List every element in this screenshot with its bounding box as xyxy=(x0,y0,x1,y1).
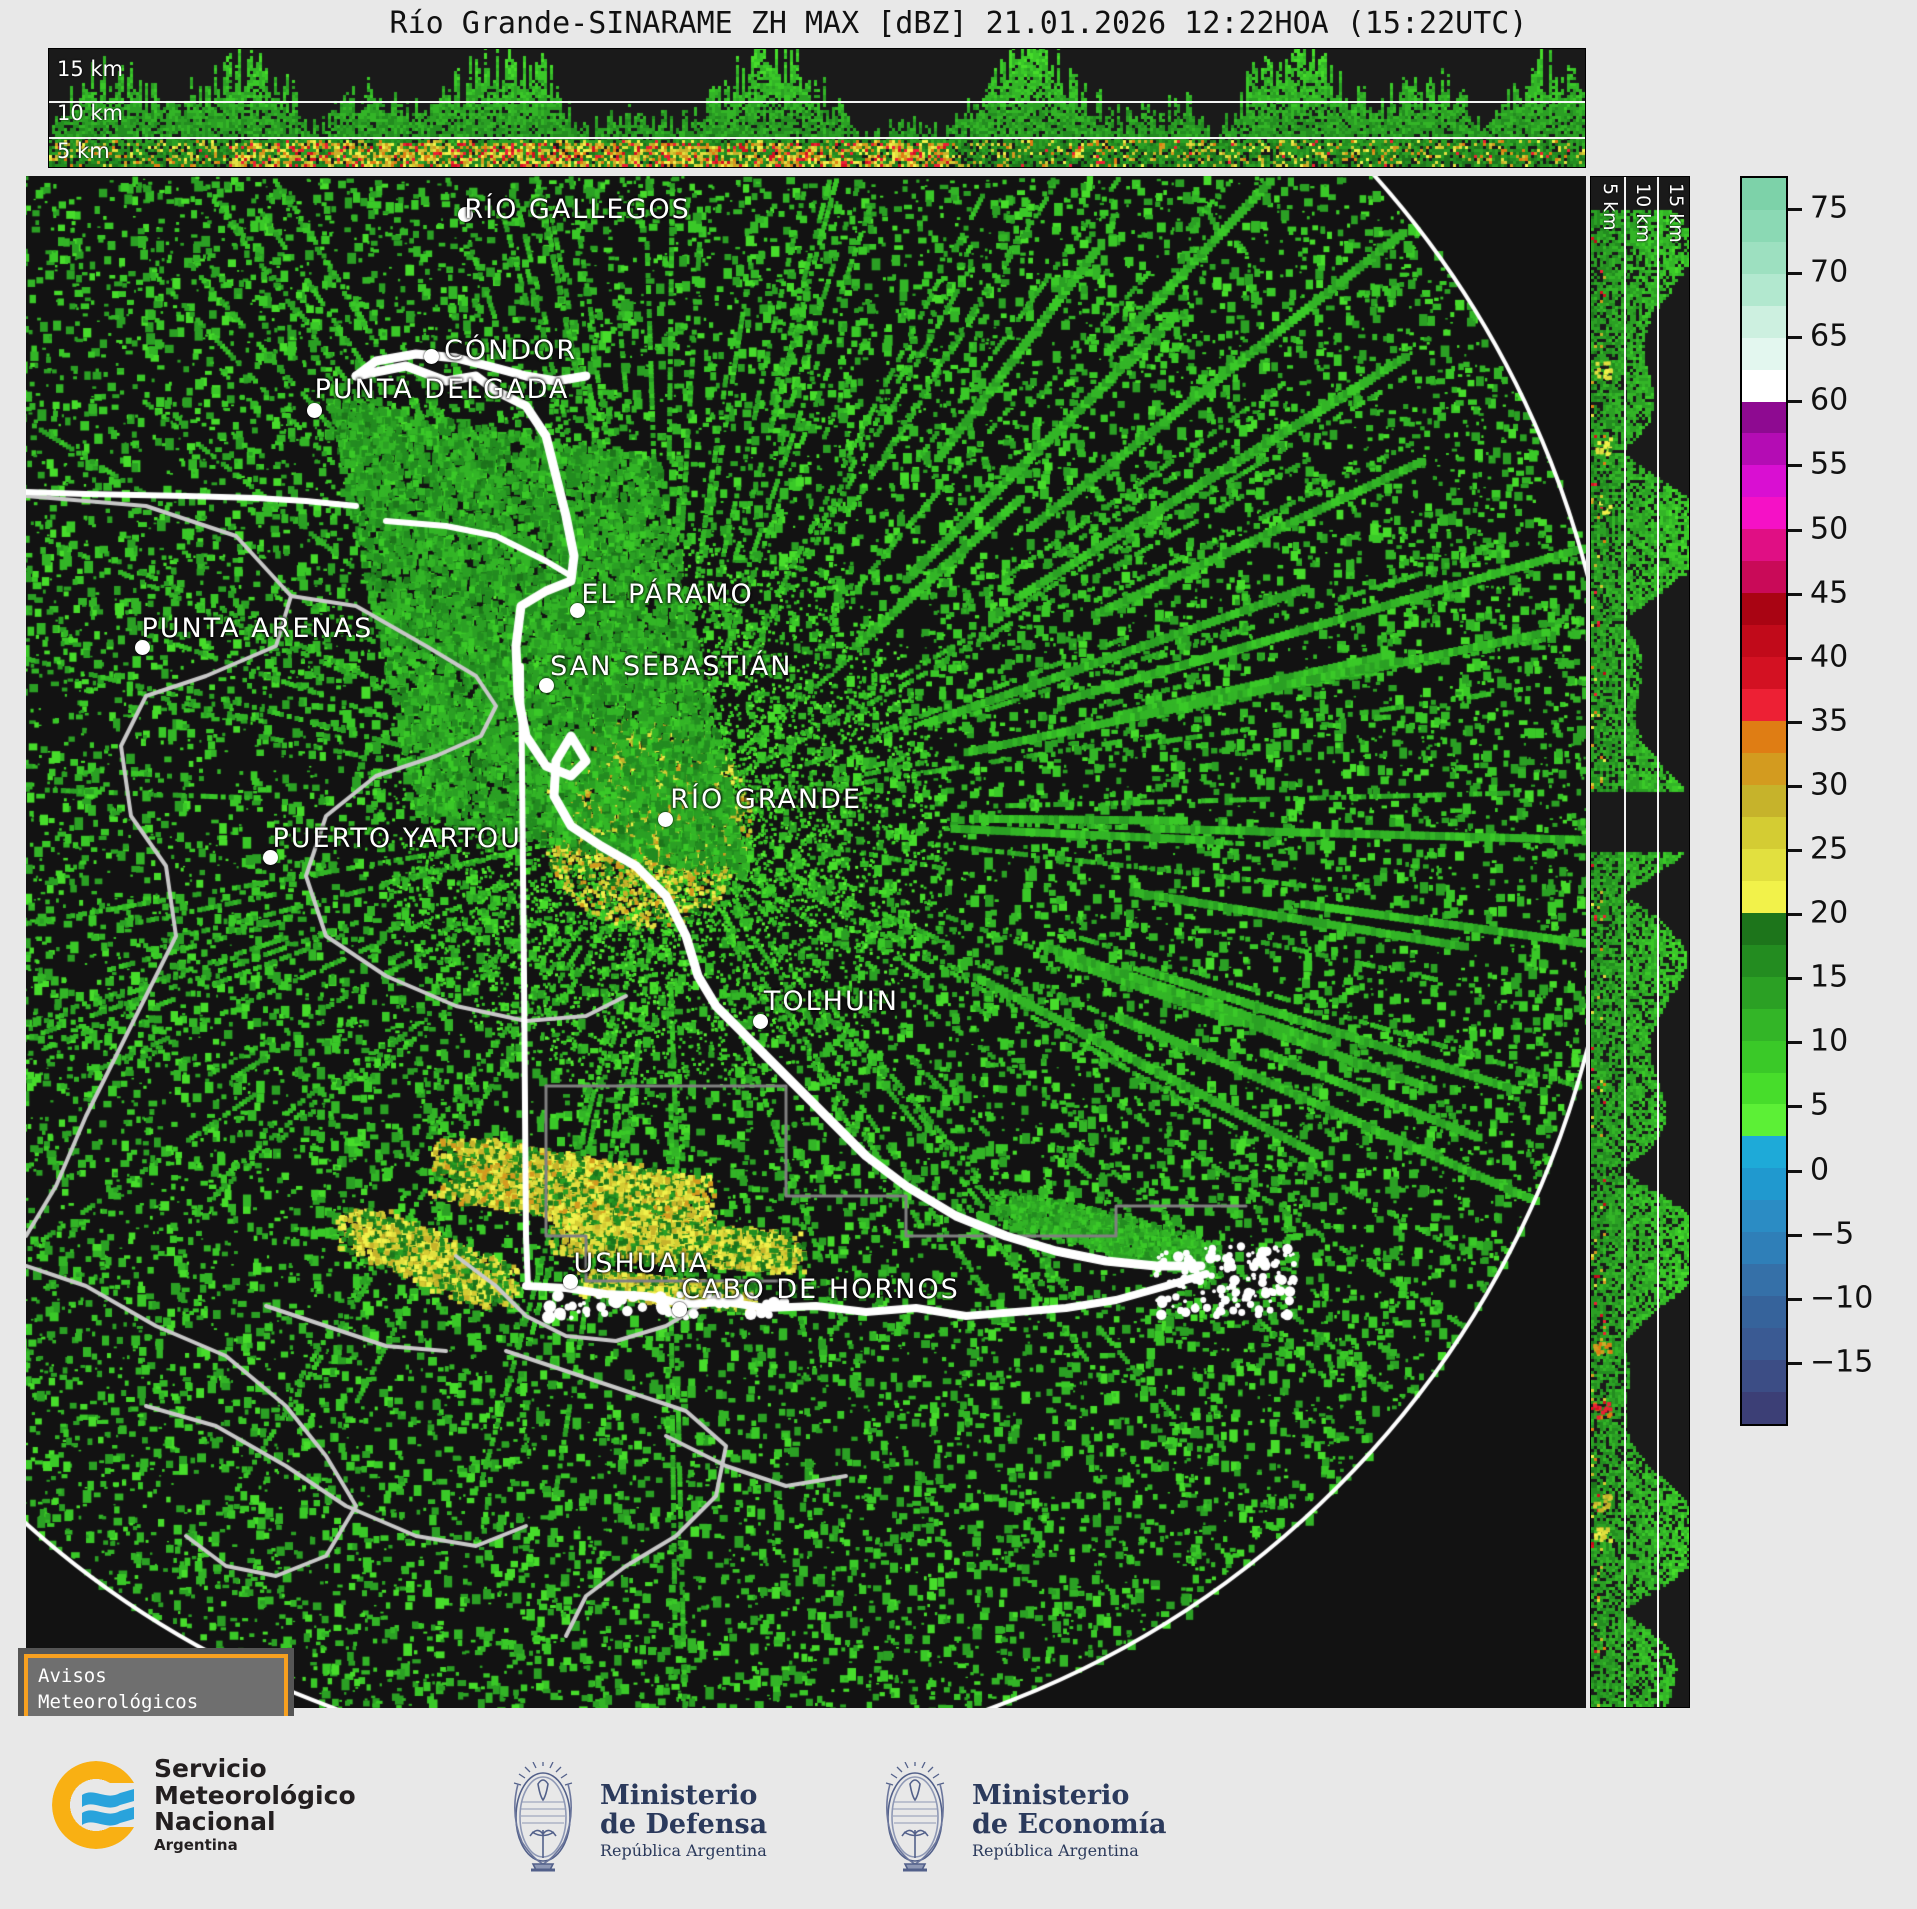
colorbar-tick xyxy=(1788,1041,1802,1044)
argentina-coat-of-arms-icon xyxy=(872,1762,958,1878)
city-marker-dot xyxy=(658,812,673,827)
economia-line2: de Economía xyxy=(972,1810,1166,1839)
defensa-line1: Ministerio xyxy=(600,1781,767,1810)
colorbar-segment xyxy=(1742,465,1786,497)
colorbar-segment xyxy=(1742,1200,1786,1232)
colorbar-segment xyxy=(1742,274,1786,306)
page-title: Río Grande-SINARAME ZH MAX [dBZ] 21.01.2… xyxy=(0,0,1917,46)
colorbar-tick xyxy=(1788,977,1802,980)
colorbar-tick-label: 45 xyxy=(1810,575,1848,610)
colorbar-tick-label: 40 xyxy=(1810,639,1848,674)
colorbar-segment xyxy=(1742,178,1786,210)
top-gridline-10km xyxy=(49,101,1585,103)
right-cross-section-panel: 5 km 10 km 15 km xyxy=(1590,176,1690,1708)
colorbar-segment xyxy=(1742,817,1786,849)
colorbar-segment xyxy=(1742,1232,1786,1264)
colorbar-tick-label: −10 xyxy=(1810,1280,1873,1315)
colorbar-tick xyxy=(1788,849,1802,852)
colorbar-tick-label: 55 xyxy=(1810,447,1848,482)
city-marker-dot xyxy=(307,403,322,418)
colorbar-segment xyxy=(1742,1168,1786,1200)
logo-ministerio-defensa: Ministerio de Defensa República Argentin… xyxy=(500,1762,767,1878)
colorbar-tick-label: 30 xyxy=(1810,767,1848,802)
city-marker-dot xyxy=(672,1302,687,1317)
colorbar-segment xyxy=(1742,785,1786,817)
city-marker-dot xyxy=(424,349,439,364)
colorbar-tick xyxy=(1788,272,1802,275)
colorbar-segment xyxy=(1742,721,1786,753)
colorbar-segment xyxy=(1742,433,1786,465)
colorbar-segment xyxy=(1742,1328,1786,1360)
colorbar-segment xyxy=(1742,402,1786,434)
colorbar-segment xyxy=(1742,753,1786,785)
colorbar-tick xyxy=(1788,336,1802,339)
colorbar-tick xyxy=(1788,529,1802,532)
top-cross-section-canvas xyxy=(49,49,1585,167)
colorbar-segment xyxy=(1742,945,1786,977)
colorbar-tick-label: 5 xyxy=(1810,1088,1829,1123)
colorbar-segment xyxy=(1742,849,1786,881)
warning-line-1: Avisos Meteorológicos xyxy=(38,1664,274,1715)
colorbar-segment xyxy=(1742,1296,1786,1328)
colorbar-tick xyxy=(1788,593,1802,596)
right-height-label-5km: 5 km xyxy=(1599,183,1621,231)
colorbar-segment xyxy=(1742,593,1786,625)
argentina-coat-of-arms-icon xyxy=(500,1762,586,1878)
top-height-label-5km: 5 km xyxy=(57,139,110,163)
colorbar-tick xyxy=(1788,400,1802,403)
colorbar-tick xyxy=(1788,1234,1802,1237)
colorbar-segment xyxy=(1742,306,1786,338)
colorbar-tick xyxy=(1788,657,1802,660)
colorbar-tick xyxy=(1788,208,1802,211)
colorbar-segment xyxy=(1742,370,1786,402)
colorbar-segment xyxy=(1742,1009,1786,1041)
smn-logo-text: Servicio Meteorológico Nacional Argentin… xyxy=(154,1756,356,1853)
colorbar-segment xyxy=(1742,689,1786,721)
colorbar-segment xyxy=(1742,1392,1786,1424)
colorbar-tick-label: 0 xyxy=(1810,1152,1829,1187)
colorbar-tick-label: 25 xyxy=(1810,832,1848,867)
colorbar-gradient xyxy=(1740,176,1788,1426)
radar-map-panel[interactable]: RÍO GALLEGOSCÓNDORPUNTA DELGADAPUNTA ARE… xyxy=(26,176,1586,1708)
colorbar-ticks: −15−10−5051015202530354045505560657075 xyxy=(1788,176,1908,1426)
colorbar-segment xyxy=(1742,561,1786,593)
colorbar-tick-label: 70 xyxy=(1810,255,1848,290)
right-gridline-15km xyxy=(1657,177,1659,1707)
smn-line2: Meteorológico xyxy=(154,1783,356,1810)
top-gridline-5km xyxy=(49,137,1585,139)
colorbar-segment xyxy=(1742,977,1786,1009)
smn-line3: Nacional xyxy=(154,1809,356,1836)
status-badge-avisos[interactable]: Avisos Meteorológicos a Muy Corto Plazo xyxy=(24,1654,288,1724)
colorbar-segment xyxy=(1742,1136,1786,1168)
colorbar-segment xyxy=(1742,1104,1786,1136)
footer: Servicio Meteorológico Nacional Argentin… xyxy=(0,1716,1917,1909)
colorbar-tick xyxy=(1788,1105,1802,1108)
colorbar-segment xyxy=(1742,881,1786,913)
logo-smn: Servicio Meteorológico Nacional Argentin… xyxy=(52,1756,356,1853)
colorbar-segment xyxy=(1742,1041,1786,1073)
colorbar-segment xyxy=(1742,1360,1786,1392)
colorbar-tick-label: 60 xyxy=(1810,383,1848,418)
colorbar-segment xyxy=(1742,529,1786,561)
right-height-label-15km: 15 km xyxy=(1665,183,1687,243)
right-gridline-10km xyxy=(1624,177,1626,1707)
colorbar-tick-label: 15 xyxy=(1810,960,1848,995)
colorbar-segment xyxy=(1742,913,1786,945)
top-cross-section-panel: 15 km 10 km 5 km xyxy=(48,48,1586,168)
smn-logo-icon xyxy=(52,1761,140,1849)
economia-sub: República Argentina xyxy=(972,1842,1166,1859)
right-height-label-10km: 10 km xyxy=(1632,183,1654,243)
logo-ministerio-economia: Ministerio de Economía República Argenti… xyxy=(872,1762,1166,1878)
ministerio-defensa-text: Ministerio de Defensa República Argentin… xyxy=(600,1781,767,1860)
colorbar-tick-label: −5 xyxy=(1810,1216,1854,1251)
colorbar-tick xyxy=(1788,913,1802,916)
smn-line1: Servicio xyxy=(154,1756,356,1783)
top-height-label-10km: 10 km xyxy=(57,101,123,125)
city-marker-dot xyxy=(458,207,473,222)
colorbar-segment xyxy=(1742,1073,1786,1105)
top-height-label-15km: 15 km xyxy=(57,57,123,81)
colorbar-tick-label: 20 xyxy=(1810,896,1848,931)
colorbar-segment xyxy=(1742,625,1786,657)
wave-icon xyxy=(80,1785,136,1829)
ministerio-economia-text: Ministerio de Economía República Argenti… xyxy=(972,1781,1166,1860)
defensa-sub: República Argentina xyxy=(600,1842,767,1859)
colorbar-tick xyxy=(1788,1170,1802,1173)
colorbar-tick xyxy=(1788,721,1802,724)
colorbar-tick xyxy=(1788,1362,1802,1365)
colorbar-tick-label: 65 xyxy=(1810,319,1848,354)
colorbar-tick-label: 35 xyxy=(1810,703,1848,738)
city-marker-dot xyxy=(563,1274,578,1289)
colorbar-segment xyxy=(1742,210,1786,242)
colorbar-tick-label: 10 xyxy=(1810,1024,1848,1059)
colorbar-segment xyxy=(1742,242,1786,274)
colorbar-tick xyxy=(1788,464,1802,467)
colorbar-segment xyxy=(1742,657,1786,689)
colorbar-tick-label: 50 xyxy=(1810,511,1848,546)
colorbar-tick xyxy=(1788,1298,1802,1301)
colorbar-segment xyxy=(1742,1264,1786,1296)
colorbar-tick-label: −15 xyxy=(1810,1344,1873,1379)
radar-map-canvas[interactable] xyxy=(26,176,1586,1708)
defensa-line2: de Defensa xyxy=(600,1810,767,1839)
right-cross-section-canvas xyxy=(1591,177,1689,1707)
smn-sub: Argentina xyxy=(154,1838,356,1854)
colorbar-segment xyxy=(1742,338,1786,370)
city-marker-dot xyxy=(753,1014,768,1029)
colorbar-tick-label: 75 xyxy=(1810,191,1848,226)
colorbar-tick xyxy=(1788,785,1802,788)
economia-line1: Ministerio xyxy=(972,1781,1166,1810)
colorbar: −15−10−5051015202530354045505560657075 xyxy=(1740,176,1910,1426)
colorbar-segment xyxy=(1742,497,1786,529)
